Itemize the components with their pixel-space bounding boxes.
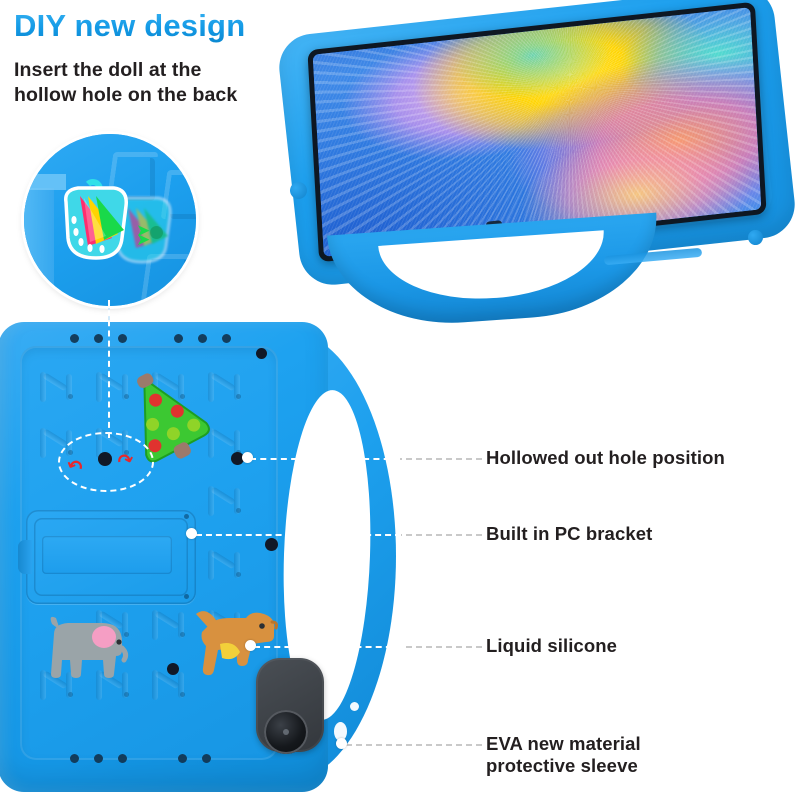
doll-slot bbox=[40, 372, 74, 402]
doll-slot bbox=[152, 670, 186, 700]
case-pivot-hole bbox=[256, 348, 267, 359]
dog-doll bbox=[190, 604, 280, 678]
leader-line-bracket bbox=[396, 534, 482, 536]
case-rivet-right-icon bbox=[747, 229, 763, 245]
kickstand-bar bbox=[42, 536, 172, 574]
callout-label-hole: Hollowed out hole position bbox=[486, 447, 725, 469]
leader-line-hole-on-case bbox=[250, 458, 400, 460]
zoom-detail-circle: ➤➤ bbox=[24, 134, 196, 306]
case-edge-hole bbox=[350, 702, 359, 711]
tablet-product-photo bbox=[268, 6, 800, 318]
doll-slot bbox=[152, 610, 186, 640]
callout-label-bracket: Built in PC bracket bbox=[486, 523, 652, 545]
case-hole-marker bbox=[265, 538, 278, 551]
doll-icon bbox=[54, 176, 140, 268]
doll-slot bbox=[208, 486, 242, 516]
infographic-canvas: DIY new design Insert the doll at the ho… bbox=[0, 0, 800, 800]
callout-label-eva: EVA new material protective sleeve bbox=[486, 733, 641, 777]
page-subtitle: Insert the doll at the hollow hole on th… bbox=[14, 58, 237, 108]
leader-line-silicone bbox=[396, 646, 482, 648]
hollow-hole bbox=[98, 452, 112, 466]
camera-lens-highlight bbox=[283, 729, 289, 735]
page-title: DIY new design bbox=[14, 8, 245, 44]
kickstand-finger-notch bbox=[18, 540, 32, 574]
inset-leader-line bbox=[108, 300, 110, 438]
leader-line-silicone-on-case bbox=[254, 646, 402, 648]
doll-slot bbox=[208, 550, 242, 580]
leader-line-eva bbox=[346, 744, 482, 746]
leader-anchor-silicone bbox=[245, 640, 256, 651]
leader-anchor-hole bbox=[242, 452, 253, 463]
leader-line-bracket-on-case bbox=[196, 534, 401, 536]
leader-anchor-bracket bbox=[186, 528, 197, 539]
insert-arrow-icon: ➤➤ bbox=[136, 226, 148, 244]
leader-line-hole bbox=[396, 458, 482, 460]
callout-label-silicone: Liquid silicone bbox=[486, 635, 617, 657]
leader-anchor-eva bbox=[336, 738, 347, 749]
case-hole-marker bbox=[167, 663, 179, 675]
elephant-doll bbox=[38, 610, 130, 680]
